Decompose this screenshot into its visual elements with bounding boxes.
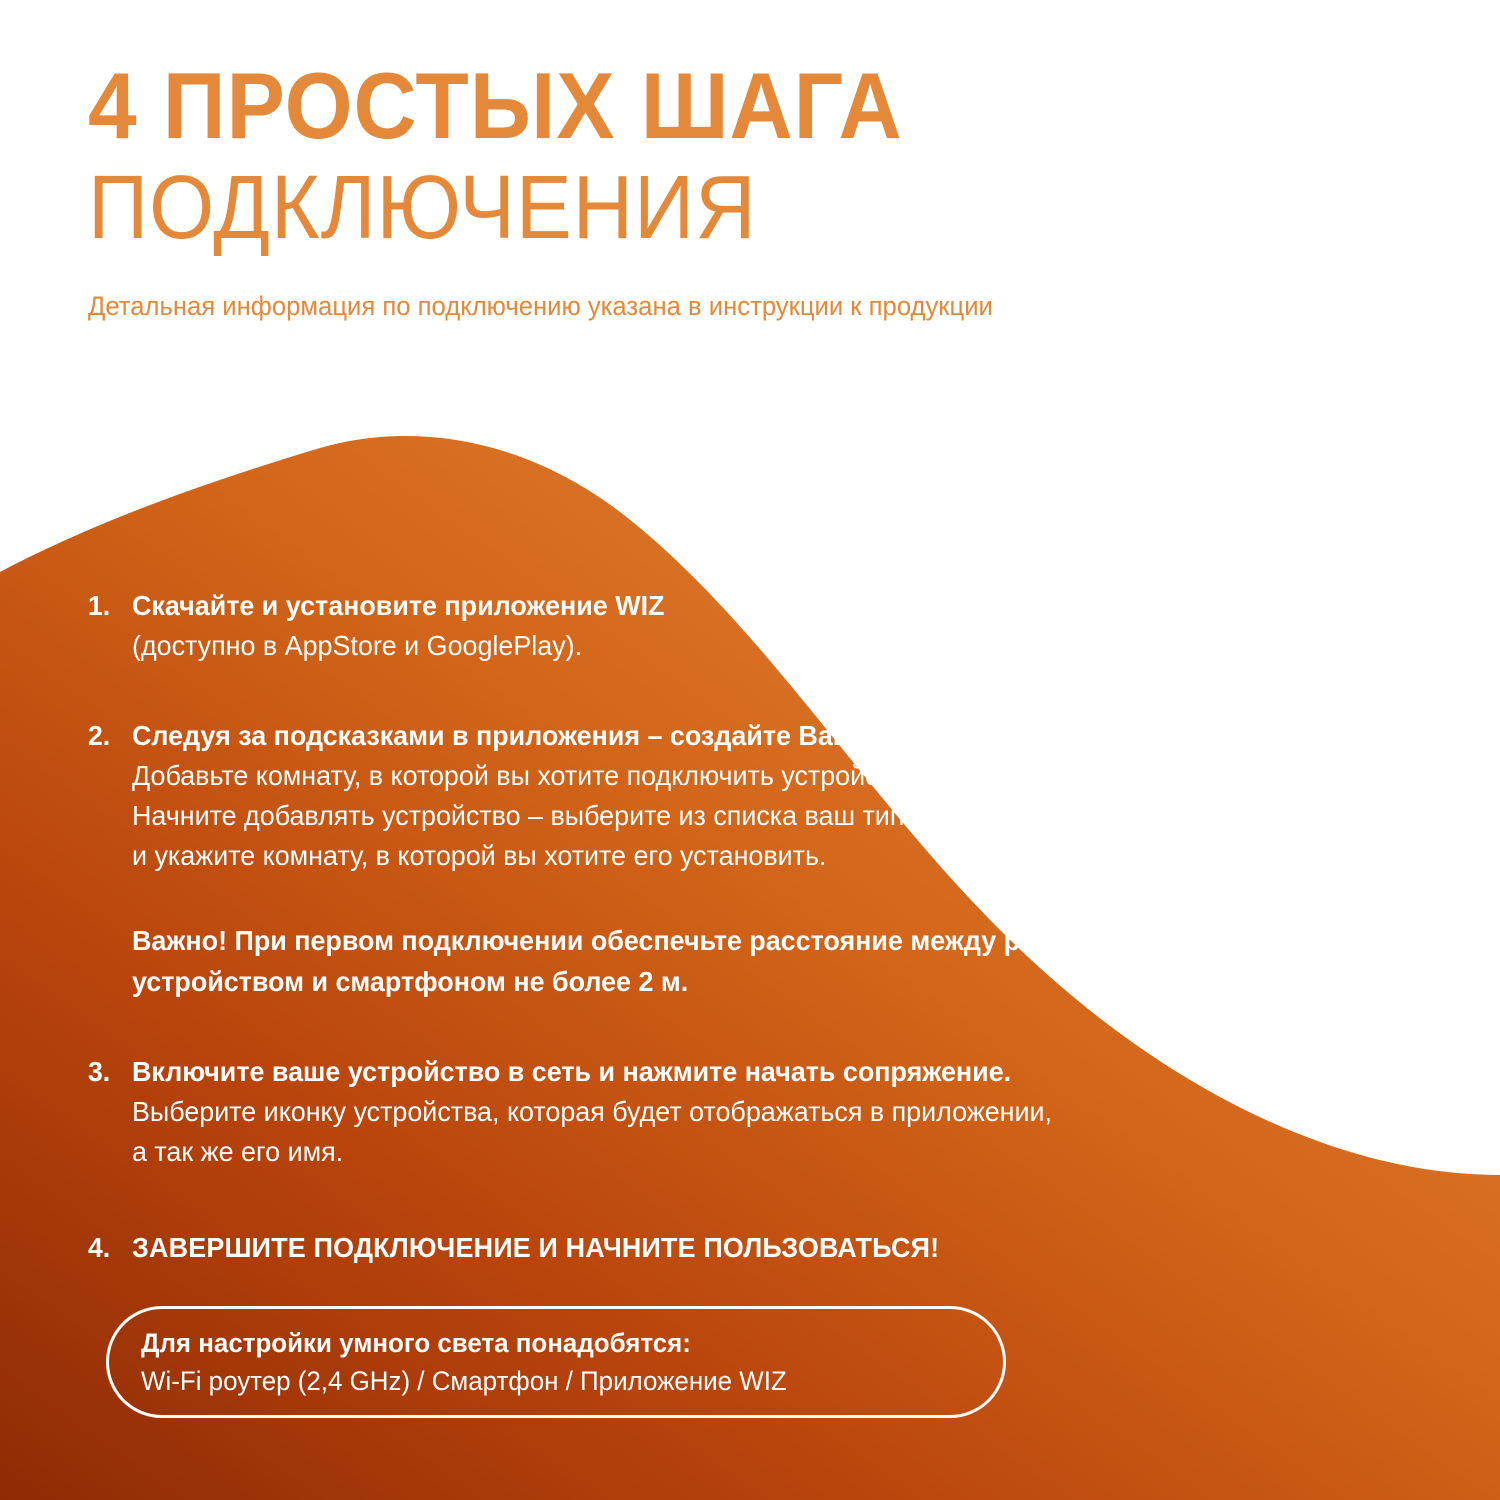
step-heading-2-bold: Следуя за подсказками в приложения – соз… xyxy=(132,720,1104,751)
step-number-1: 1. xyxy=(88,586,130,626)
important-note: Важно! При первом подключении обеспечьте… xyxy=(88,920,1428,1002)
step-body-3: Включите ваше устройство в сеть и нажмит… xyxy=(132,1052,1428,1172)
page-title-line-1: 4 ПРОСТЫХ ШАГА xyxy=(88,58,1316,154)
step-number-3: 3. xyxy=(88,1052,130,1092)
step-item-1: 1. Скачайте и установите приложение WIZ … xyxy=(88,586,1428,666)
step-heading-2-tail: . xyxy=(1104,720,1111,751)
step-line-2-3: и укажите комнату, в которой вы хотите е… xyxy=(132,836,1376,876)
step-line-1-1: (доступно в AppStore и GooglePlay). xyxy=(132,626,1376,666)
step-heading-2: Следуя за подсказками в приложения – соз… xyxy=(132,716,1376,756)
requirements-title: Для настройки умного света понадобятся: xyxy=(141,1324,969,1362)
step-line-2-2: Начните добавлять устройство – выберите … xyxy=(132,796,1376,836)
page-header: 4 ПРОСТЫХ ШАГА ПОДКЛЮЧЕНИЯ Детальная инф… xyxy=(88,58,1408,322)
requirements-pill: Для настройки умного света понадобятся: … xyxy=(106,1306,1006,1418)
spacer-after-step-3 xyxy=(88,1172,1428,1228)
step-heading-1: Скачайте и установите приложение WIZ xyxy=(132,586,1376,626)
step-item-2: 2. Следуя за подсказками в приложения – … xyxy=(88,716,1428,876)
poster-canvas: 4 ПРОСТЫХ ШАГА ПОДКЛЮЧЕНИЯ Детальная инф… xyxy=(0,0,1500,1500)
spacer-after-important xyxy=(88,1002,1428,1052)
step-item-3: 3. Включите ваше устройство в сеть и наж… xyxy=(88,1052,1428,1172)
spacer-after-step-1 xyxy=(88,666,1428,716)
step-body-4: ЗАВЕРШИТЕ ПОДКЛЮЧЕНИЕ И НАЧНИТЕ ПОЛЬЗОВА… xyxy=(132,1228,1428,1268)
step-line-3-1: Выберите иконку устройства, которая буде… xyxy=(132,1092,1376,1132)
important-note-line-2: устройством и смартфоном не более 2 м. xyxy=(132,961,1376,1002)
step-heading-3: Включите ваше устройство в сеть и нажмит… xyxy=(132,1052,1376,1092)
page-subtitle: Детальная информация по подключению указ… xyxy=(88,290,1342,322)
step-body-1: Скачайте и установите приложение WIZ (до… xyxy=(132,586,1428,666)
steps-list: 1. Скачайте и установите приложение WIZ … xyxy=(88,586,1428,1268)
step-body-2: Следуя за подсказками в приложения – соз… xyxy=(132,716,1428,876)
spacer-before-important xyxy=(88,876,1428,920)
step-item-4: 4. ЗАВЕРШИТЕ ПОДКЛЮЧЕНИЕ И НАЧНИТЕ ПОЛЬЗ… xyxy=(88,1228,1428,1268)
step-line-2-1: Добавьте комнату, в которой вы хотите по… xyxy=(132,756,1376,796)
requirements-items: Wi-Fi роутер (2,4 GHz) / Смартфон / Прил… xyxy=(141,1362,969,1400)
step-heading-4: ЗАВЕРШИТЕ ПОДКЛЮЧЕНИЕ И НАЧНИТЕ ПОЛЬЗОВА… xyxy=(132,1228,1376,1268)
step-number-4: 4. xyxy=(88,1228,130,1268)
important-note-line-1: Важно! При первом подключении обеспечьте… xyxy=(132,920,1376,961)
step-line-3-2: а так же его имя. xyxy=(132,1132,1376,1172)
page-title-line-2: ПОДКЛЮЧЕНИЯ xyxy=(88,160,1316,256)
step-number-2: 2. xyxy=(88,716,130,756)
